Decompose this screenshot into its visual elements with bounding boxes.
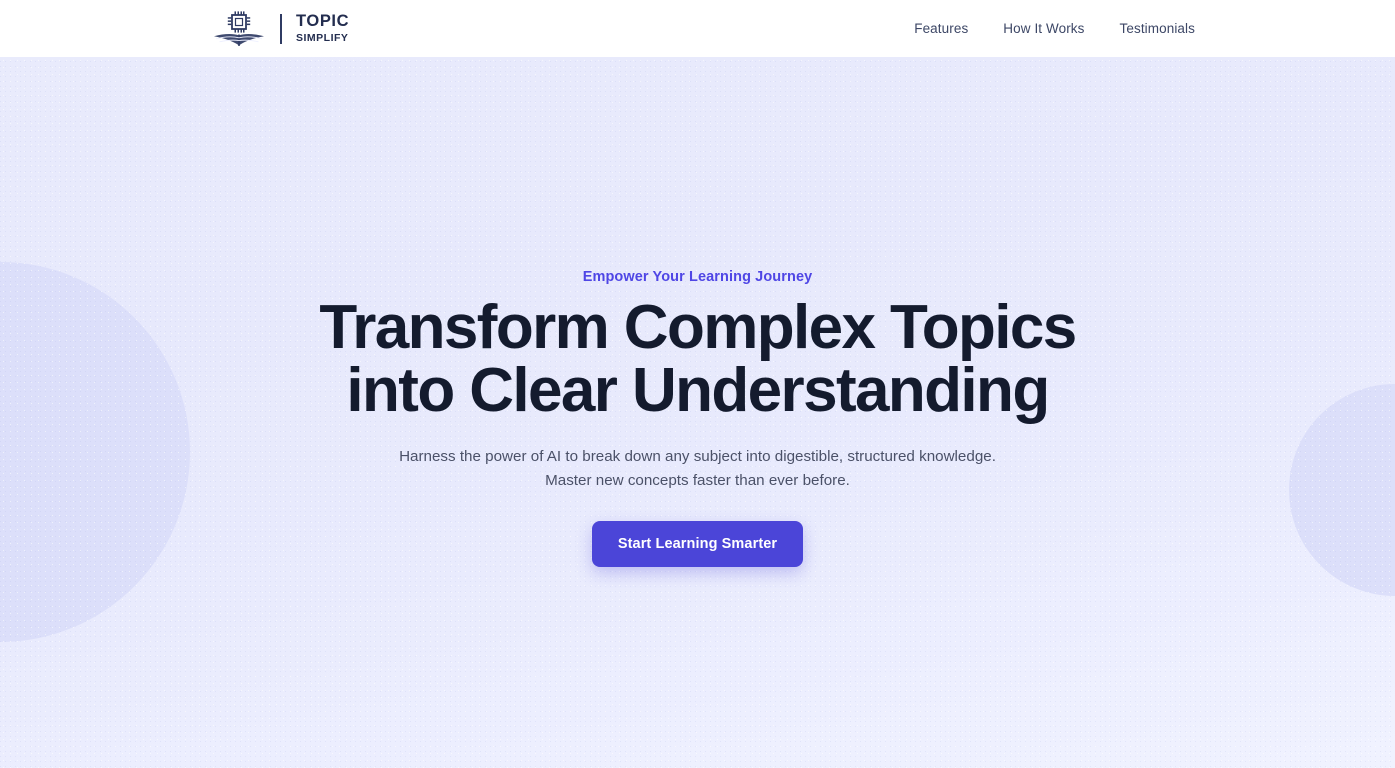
brand-wordmark: TOPIC SIMPLIFY	[296, 13, 349, 44]
brand-divider	[280, 14, 282, 44]
start-learning-button[interactable]: Start Learning Smarter	[592, 521, 803, 567]
brand-subtitle: SIMPLIFY	[296, 32, 349, 45]
brand-logo[interactable]: TOPIC SIMPLIFY	[208, 8, 349, 50]
book-chip-logo-icon	[208, 9, 270, 49]
hero-eyebrow: Empower Your Learning Journey	[583, 269, 813, 285]
landing-page: TOPIC SIMPLIFY Features How It Works Tes…	[0, 0, 1395, 768]
site-header: TOPIC SIMPLIFY Features How It Works Tes…	[0, 0, 1395, 57]
hero-title-line-2: into Clear Understanding	[319, 360, 1075, 423]
nav-link-how-it-works[interactable]: How It Works	[1003, 21, 1084, 36]
brand-title: TOPIC	[296, 13, 349, 30]
nav-link-testimonials[interactable]: Testimonials	[1120, 21, 1195, 36]
hero-title-line-1: Transform Complex Topics	[319, 297, 1075, 360]
nav-link-features[interactable]: Features	[914, 21, 968, 36]
hero-section: Empower Your Learning Journey Transform …	[0, 57, 1395, 768]
main-nav: Features How It Works Testimonials	[914, 0, 1195, 57]
hero-subtitle: Harness the power of AI to break down an…	[382, 445, 1014, 492]
page-title: Transform Complex Topics into Clear Unde…	[319, 297, 1075, 422]
hero-content: Empower Your Learning Journey Transform …	[0, 57, 1395, 768]
